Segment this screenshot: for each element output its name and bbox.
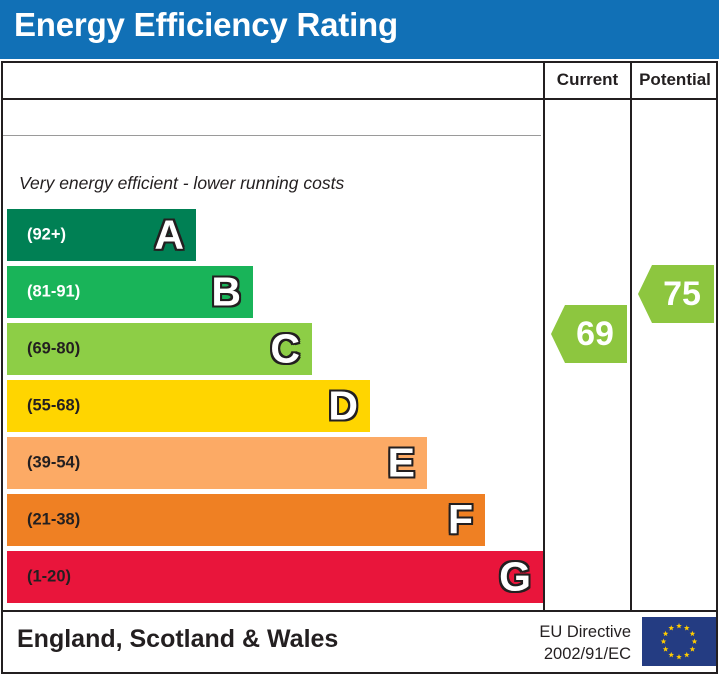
footer-directive-line2: 2002/91/EC: [463, 644, 631, 666]
rating-band-b: (81-91)B: [7, 266, 253, 318]
band-range-label: (55-68): [27, 397, 80, 416]
band-letter-label: B: [211, 272, 241, 313]
column-header-potential: Potential: [632, 70, 718, 90]
current-rating-marker: 69: [551, 305, 627, 363]
band-range-label: (92+): [27, 226, 66, 245]
band-range-label: (21-38): [27, 511, 80, 530]
eu-flag-icon: [642, 617, 716, 666]
page-title: Energy Efficiency Rating: [14, 6, 398, 44]
band-range-label: (81-91): [27, 283, 80, 302]
band-letter-label: A: [154, 215, 184, 256]
column-divider-current: [543, 63, 545, 610]
band-letter-label: C: [270, 329, 300, 370]
chart-header-bar: Energy Efficiency Rating: [0, 0, 719, 59]
footer-directive-line1: EU Directive: [463, 622, 631, 644]
energy-efficiency-certificate: Energy Efficiency Rating Current Potenti…: [0, 0, 719, 675]
rating-chart-table: Current Potential Very energy efficient …: [1, 61, 718, 612]
current-rating-value: 69: [564, 317, 614, 351]
band-letter-label: F: [448, 500, 473, 541]
rating-band-e: (39-54)E: [7, 437, 427, 489]
rating-band-f: (21-38)F: [7, 494, 485, 546]
certificate-footer: England, Scotland & Wales EU Directive 2…: [1, 612, 718, 674]
band-letter-label: E: [388, 443, 415, 484]
rating-bands-group: (92+)A(81-91)B(69-80)C(55-68)D(39-54)E(2…: [3, 63, 543, 610]
rating-band-d: (55-68)D: [7, 380, 370, 432]
band-letter-label: G: [499, 557, 531, 598]
band-letter-label: D: [328, 386, 358, 427]
rating-band-g: (1-20)G: [7, 551, 543, 603]
rating-band-c: (69-80)C: [7, 323, 312, 375]
band-range-label: (69-80): [27, 340, 80, 359]
rating-band-a: (92+)A: [7, 209, 196, 261]
band-range-label: (1-20): [27, 568, 71, 587]
potential-rating-value: 75: [651, 277, 701, 311]
column-header-current: Current: [545, 70, 630, 90]
band-range-label: (39-54): [27, 454, 80, 473]
footer-directive: EU Directive 2002/91/EC: [463, 622, 631, 666]
column-divider-potential: [630, 63, 632, 610]
footer-region-label: England, Scotland & Wales: [17, 625, 338, 654]
potential-rating-marker: 75: [638, 265, 714, 323]
